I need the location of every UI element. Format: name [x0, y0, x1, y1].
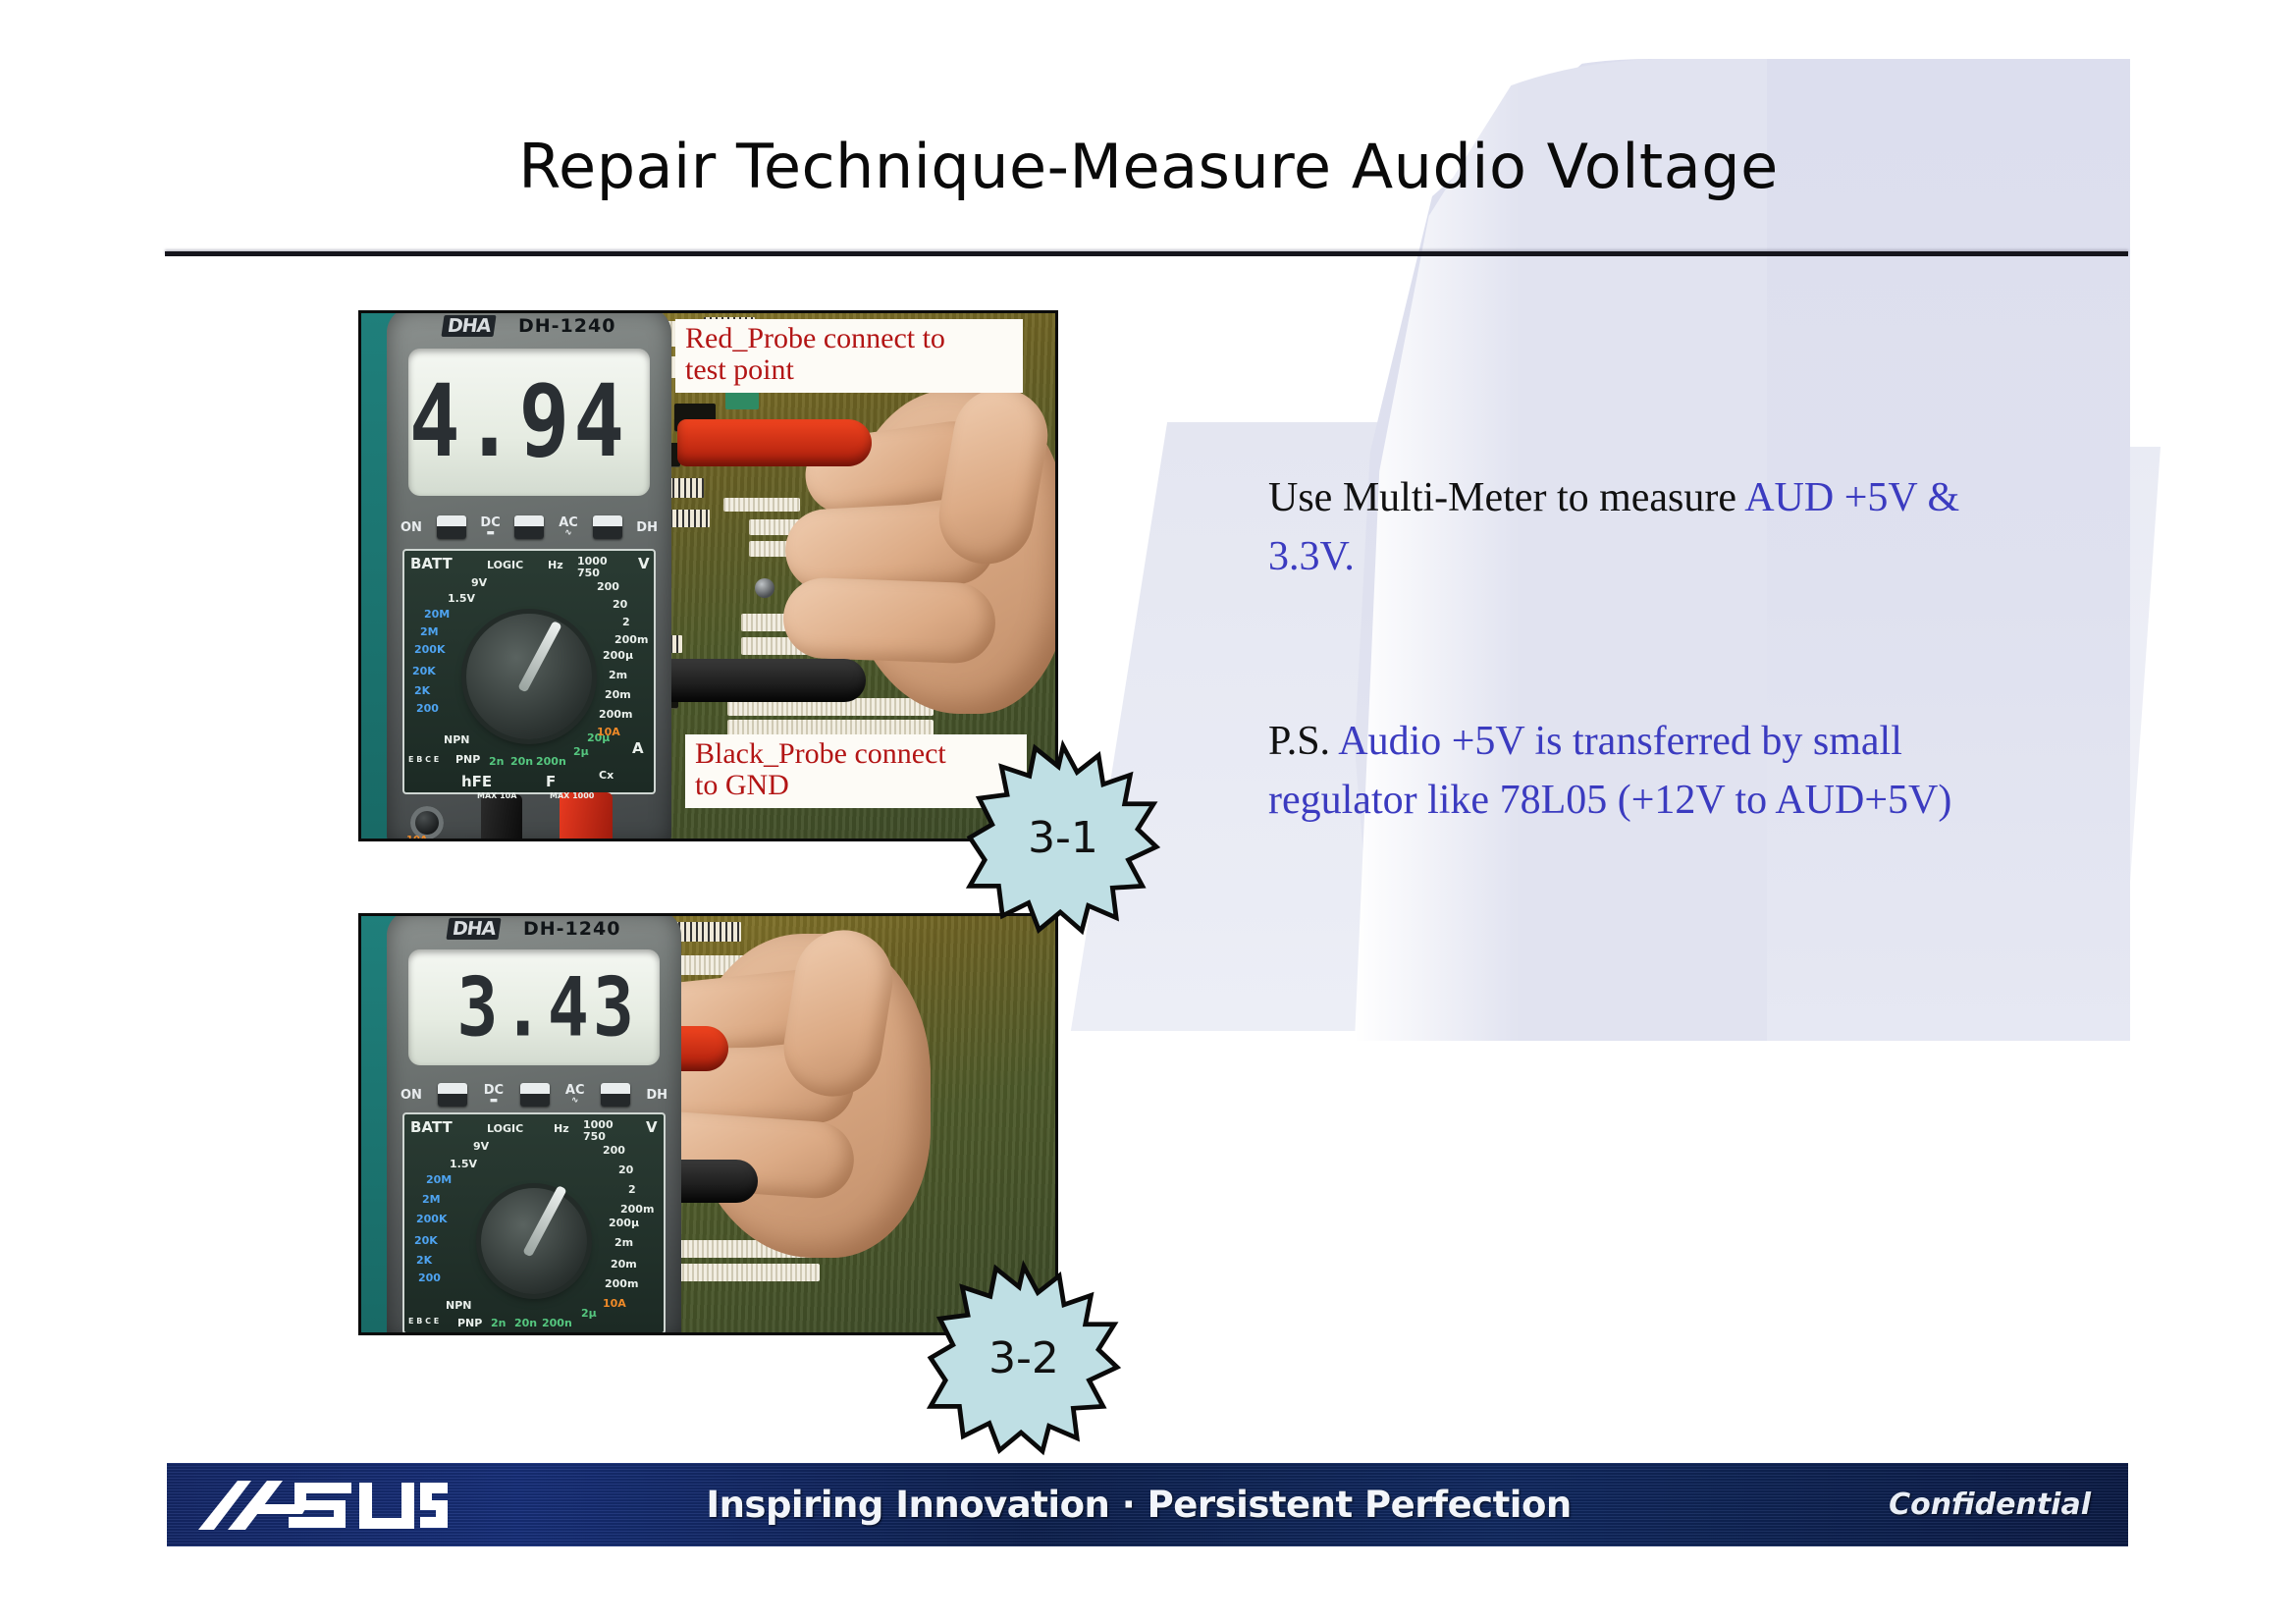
dial-label-v: V — [638, 555, 650, 572]
meter-brand-row-2: DHA DH-1240 — [387, 918, 681, 940]
dial-label-logic-2: LOGIC — [487, 1122, 523, 1135]
dial-label-2v: 2 — [622, 616, 630, 628]
dial-label-logic: LOGIC — [487, 559, 523, 571]
switch-label-ac: AC∿ — [559, 516, 578, 538]
dial-label-20m-a: 20m — [605, 688, 631, 701]
dial-label-npn-2: NPN — [446, 1299, 471, 1312]
dial-label-200k-ohm: 200K — [414, 643, 446, 656]
dial-label-20n: 20n — [510, 755, 533, 768]
dial-label-v-2: V — [646, 1118, 658, 1136]
meter-brand-row: DHA DH-1240 — [387, 315, 671, 337]
dial-label-20k-ohm: 20K — [412, 665, 436, 677]
meter-switch-row: ON DC▬ AC∿ DH — [400, 515, 658, 539]
dial-label-2m-a: 2m — [609, 669, 627, 681]
switch-label-ac-2: AC∿ — [565, 1084, 585, 1106]
dial-label-20v: 20 — [613, 598, 627, 611]
dial-label-200n-2: 200n — [542, 1317, 572, 1329]
knob-pointer — [517, 621, 561, 693]
dial-label-2k-ohm: 2K — [414, 684, 430, 697]
meter-switch-row-2: ON DC▬ AC∿ DH — [400, 1083, 667, 1107]
page-title: Repair Technique-Measure Audio Voltage — [167, 131, 2130, 202]
dial-label-10a-2: 10A — [603, 1297, 626, 1310]
switch-dc-2[interactable] — [520, 1083, 550, 1107]
black-probe — [648, 659, 866, 702]
dial-label-2m-ohm: 2M — [420, 625, 439, 638]
knob-pointer-2 — [522, 1185, 566, 1258]
description-paragraph-2: P.S. Audio +5V is transferred by small r… — [1268, 713, 2054, 830]
dial-label-1_5v: 1.5V — [448, 592, 475, 605]
dial-label-2v-2: 2 — [628, 1183, 636, 1196]
black-probe-plug[interactable] — [481, 794, 522, 841]
dial-label-20m-a-2: 20m — [611, 1258, 637, 1271]
dial-label-hfe: hFE — [461, 773, 492, 790]
switch-label-dh-2: DH — [646, 1088, 667, 1103]
para2-accent: Audio +5V is transferred by small regula… — [1268, 719, 1951, 823]
dial-label-2u: 2µ — [573, 745, 589, 758]
dial-label-1_5v-2: 1.5V — [450, 1158, 477, 1170]
dial-label-200m-a-2: 200m — [605, 1277, 638, 1290]
asus-logo-icon — [192, 1475, 448, 1536]
multimeter-3-2: DHA DH-1240 3.43 ON DC▬ AC∿ DH BATT LOGI… — [387, 913, 681, 1335]
switch-label-on: ON — [400, 520, 422, 535]
meter-brand: DHA — [441, 315, 496, 337]
switch-on-2[interactable] — [438, 1083, 467, 1107]
dial-label-200v-2: 200 — [603, 1144, 625, 1157]
multimeter-3-1: DHA DH-1240 4.94 ON DC▬ AC∿ DH BATT LOGI… — [387, 310, 671, 841]
switch-label-dc: DC▬ — [480, 516, 500, 538]
burst-label-3-1: 3-1 — [970, 744, 1156, 931]
dial-label-pnp: PNP — [455, 753, 480, 766]
dial-label-20m-ohm-2: 20M — [426, 1173, 452, 1186]
dial-label-200m-a: 200m — [599, 708, 632, 721]
para1-lead: Use Multi-Meter to measure — [1268, 475, 1744, 520]
dial-label-20m-ohm: 20M — [424, 608, 450, 621]
para2-lead: P.S. — [1268, 719, 1338, 764]
dial-label-v750: 750 — [577, 567, 600, 579]
meter-range-knob[interactable] — [466, 614, 592, 739]
dial-label-2m-ohm-2: 2M — [422, 1193, 441, 1206]
meter-reading-2: 3.43 — [456, 967, 638, 1049]
meter-jack-row: 10A MAX 10A MAX 1000 — [387, 794, 671, 841]
meter-dial-face-3-2: BATT LOGIC Hz 1000 750 V 9V 1.5V 200 20 … — [402, 1112, 666, 1334]
dial-label-200-ohm: 200 — [416, 702, 439, 715]
dial-label-2m-a-2: 2m — [614, 1236, 633, 1249]
confidential-label: Confidential — [1889, 1488, 2091, 1522]
dial-label-ebce: E B C E — [408, 755, 439, 764]
dial-label-hz: Hz — [548, 559, 563, 571]
dial-label-200mv-2: 200m — [620, 1203, 654, 1216]
dial-label-9v-2: 9V — [473, 1140, 489, 1153]
jack-label-10a: 10A — [406, 835, 428, 841]
switch-ac-2[interactable] — [601, 1083, 630, 1107]
switch-label-dh: DH — [636, 520, 658, 535]
dial-label-hz-2: Hz — [554, 1122, 569, 1135]
dial-label-2k-ohm-2: 2K — [416, 1254, 432, 1267]
dial-label-batt-2: BATT — [410, 1118, 453, 1136]
dial-label-ebce-2: E B C E — [408, 1317, 439, 1326]
meter-dial-face-3-1: BATT LOGIC Hz 1000 750 V 9V 1.5V 200 20 … — [402, 549, 656, 794]
meter-lcd-3-1: 4.94 — [408, 349, 650, 496]
jack-label-max10a: MAX 10A — [477, 791, 516, 800]
jack-label-max1000: MAX 1000 — [550, 791, 594, 800]
footer-tagline: Inspiring Innovation · Persistent Perfec… — [389, 1484, 1889, 1526]
meter-lcd-3-2: 3.43 — [408, 949, 660, 1065]
annotation-red-probe: Red_Probe connect to test point — [675, 319, 1023, 393]
footer-bar: Inspiring Innovation · Persistent Perfec… — [167, 1463, 2128, 1546]
dial-label-200k-ohm-2: 200K — [416, 1213, 448, 1225]
meter-model-2: DH-1240 — [523, 918, 620, 940]
dial-label-200v: 200 — [597, 580, 619, 593]
dial-label-npn: NPN — [444, 733, 469, 746]
meter-reading: 4.94 — [409, 372, 628, 471]
callout-burst-3-2: 3-2 — [931, 1265, 1117, 1451]
switch-label-dc-2: DC▬ — [484, 1084, 504, 1106]
dial-label-a: A — [632, 739, 644, 757]
red-probe — [677, 419, 872, 466]
switch-ac[interactable] — [593, 515, 622, 539]
title-divider — [165, 251, 2128, 256]
switch-label-on-2: ON — [400, 1088, 422, 1103]
burst-label-3-2: 3-2 — [931, 1265, 1117, 1451]
asus-wordmark-icon — [192, 1475, 448, 1536]
dial-label-2u-2: 2µ — [581, 1307, 597, 1320]
dial-label-20n-2: 20n — [514, 1317, 537, 1329]
description-paragraph-1: Use Multi-Meter to measure AUD +5V & 3.3… — [1268, 469, 2054, 586]
dial-label-10a: 10A — [597, 726, 620, 738]
meter-range-knob-2[interactable] — [481, 1188, 587, 1294]
dial-label-pnp-2: PNP — [457, 1317, 482, 1329]
dial-label-cx: Cx — [599, 769, 614, 782]
dial-label-200-ohm-2: 200 — [418, 1272, 441, 1284]
dial-label-200u-a-2: 200µ — [609, 1217, 639, 1229]
callout-burst-3-1: 3-1 — [970, 744, 1156, 931]
dial-label-2n-2: 2n — [491, 1317, 507, 1329]
dial-label-f: F — [546, 773, 556, 790]
finger-ring — [782, 576, 997, 664]
switch-on[interactable] — [437, 515, 466, 539]
dial-label-20v-2: 20 — [618, 1164, 633, 1176]
dial-label-200u-a: 200µ — [603, 649, 633, 662]
dial-label-20k-ohm-2: 20K — [414, 1234, 438, 1247]
dial-label-batt: BATT — [410, 555, 453, 572]
meter-model: DH-1240 — [518, 315, 615, 337]
dial-label-9v: 9V — [471, 576, 487, 589]
dial-label-200mv: 200m — [614, 633, 648, 646]
dial-label-v750-2: 750 — [583, 1130, 606, 1143]
switch-dc[interactable] — [514, 515, 544, 539]
dial-label-200n: 200n — [536, 755, 566, 768]
dial-label-2n: 2n — [489, 755, 505, 768]
meter-brand-2: DHA — [446, 918, 501, 940]
